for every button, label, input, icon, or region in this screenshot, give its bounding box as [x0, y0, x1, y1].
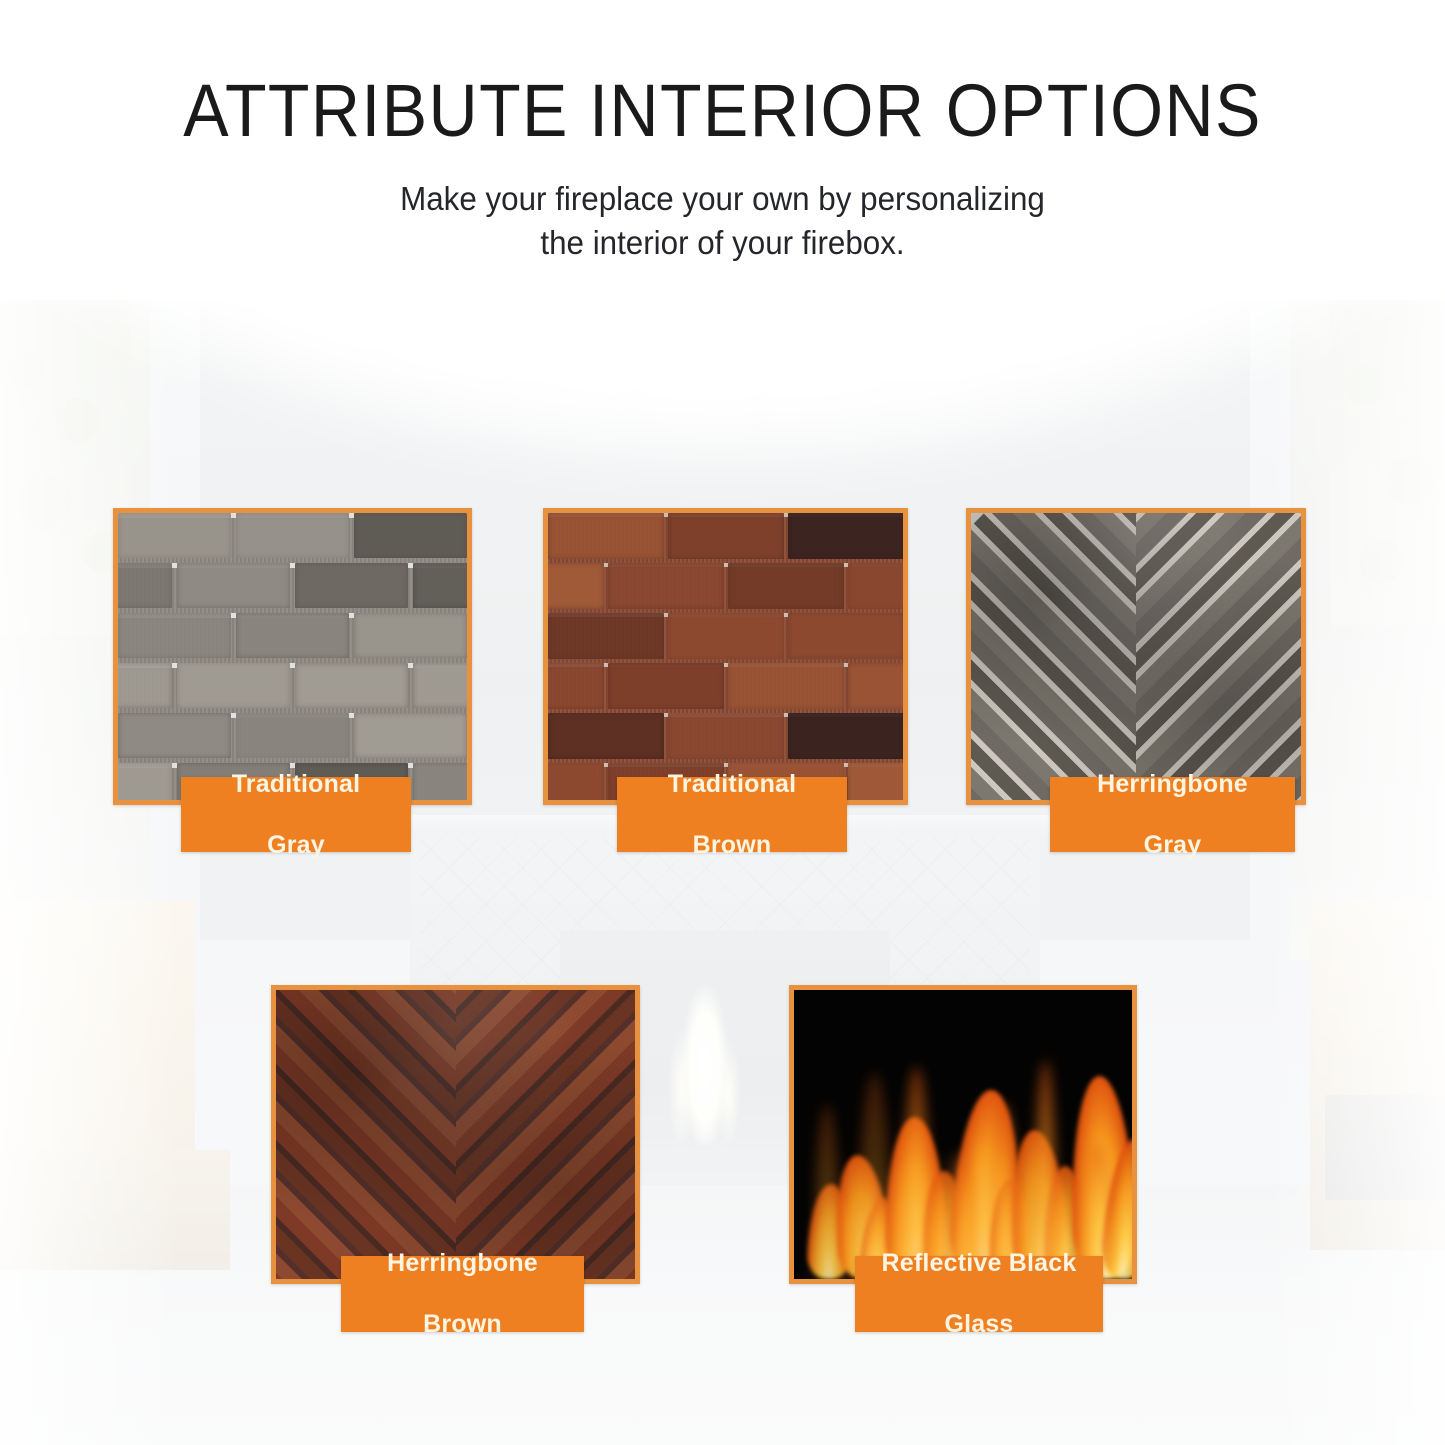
label-line-1: Herringbone — [341, 1248, 584, 1279]
brick — [548, 513, 664, 559]
brick — [118, 713, 231, 758]
label-line-2: Gray — [1050, 830, 1295, 861]
label-reflective-black-glass: Reflective Black Glass — [855, 1256, 1103, 1332]
black-glass-panel — [794, 990, 1132, 1279]
swatch-traditional-brown[interactable] — [543, 508, 908, 805]
swatch-traditional-gray[interactable] — [113, 508, 472, 805]
brick — [413, 563, 472, 608]
brick — [728, 663, 844, 709]
brick — [543, 563, 604, 609]
page-subtitle-line-2: the interior of your firebox. — [36, 221, 1409, 265]
brick — [608, 508, 724, 509]
swatch-herringbone-brown[interactable] — [271, 985, 640, 1284]
brick — [543, 508, 604, 509]
brick — [608, 663, 724, 709]
brick — [548, 613, 664, 659]
brick-courses — [118, 513, 467, 800]
brick — [295, 663, 408, 708]
brick — [177, 663, 290, 708]
brick — [118, 513, 231, 558]
brick — [788, 613, 904, 659]
brick — [177, 563, 290, 608]
brick — [728, 563, 844, 609]
header: ATTRIBUTE INTERIOR OPTIONS Make your fir… — [0, 0, 1445, 300]
brick — [295, 563, 408, 608]
label-line-1: Herringbone — [1050, 769, 1295, 800]
herringbone-pattern-gray — [971, 513, 1301, 800]
brick — [788, 513, 904, 559]
brick — [848, 508, 908, 509]
brick — [668, 513, 784, 559]
page-subtitle: Make your fireplace your own by personal… — [36, 177, 1409, 265]
brick — [788, 713, 904, 759]
brick — [543, 513, 544, 559]
label-line-1: Traditional — [181, 769, 411, 800]
brick — [608, 563, 724, 609]
brick-courses — [548, 513, 903, 800]
brick — [413, 763, 472, 805]
background-fade-left — [0, 280, 180, 1445]
brick — [113, 763, 172, 805]
page-subtitle-line-1: Make your fireplace your own by personal… — [36, 177, 1409, 221]
promo-graphic: ATTRIBUTE INTERIOR OPTIONS Make your fir… — [0, 0, 1445, 1445]
brick-pattern-gray — [118, 513, 467, 800]
brick — [113, 663, 172, 708]
brick — [668, 713, 784, 759]
brick — [728, 508, 844, 509]
herringbone-shading — [276, 990, 635, 1279]
label-herringbone-gray: Herringbone Gray — [1050, 777, 1295, 852]
brick — [543, 763, 604, 805]
herringbone-shading — [971, 513, 1301, 800]
brick — [354, 613, 467, 658]
brick — [118, 613, 231, 658]
label-line-1: Traditional — [617, 769, 847, 800]
swatch-reflective-black-glass[interactable] — [789, 985, 1137, 1284]
label-line-2: Glass — [855, 1309, 1103, 1340]
label-herringbone-brown: Herringbone Brown — [341, 1256, 584, 1332]
brick — [236, 513, 349, 558]
brick — [668, 613, 784, 659]
brick — [354, 713, 467, 758]
brick — [548, 713, 664, 759]
label-line-1: Reflective Black — [855, 1248, 1103, 1279]
brick — [543, 663, 604, 709]
brick — [543, 613, 544, 659]
brick — [236, 713, 349, 758]
brick — [113, 563, 172, 608]
brick — [848, 763, 908, 805]
brick — [413, 663, 472, 708]
brick — [848, 663, 908, 709]
herringbone-pattern-brown — [276, 990, 635, 1279]
brick — [848, 563, 908, 609]
page-title: ATTRIBUTE INTERIOR OPTIONS — [58, 68, 1387, 153]
label-line-2: Brown — [617, 830, 847, 861]
brick — [543, 713, 544, 759]
brick — [354, 513, 467, 558]
label-line-2: Brown — [341, 1309, 584, 1340]
background-fade-right — [1265, 280, 1445, 1445]
label-line-2: Gray — [181, 830, 411, 861]
swatch-herringbone-gray[interactable] — [966, 508, 1306, 805]
brick — [236, 613, 349, 658]
label-traditional-gray: Traditional Gray — [181, 777, 411, 852]
brick-pattern-brown — [548, 513, 903, 800]
label-traditional-brown: Traditional Brown — [617, 777, 847, 852]
